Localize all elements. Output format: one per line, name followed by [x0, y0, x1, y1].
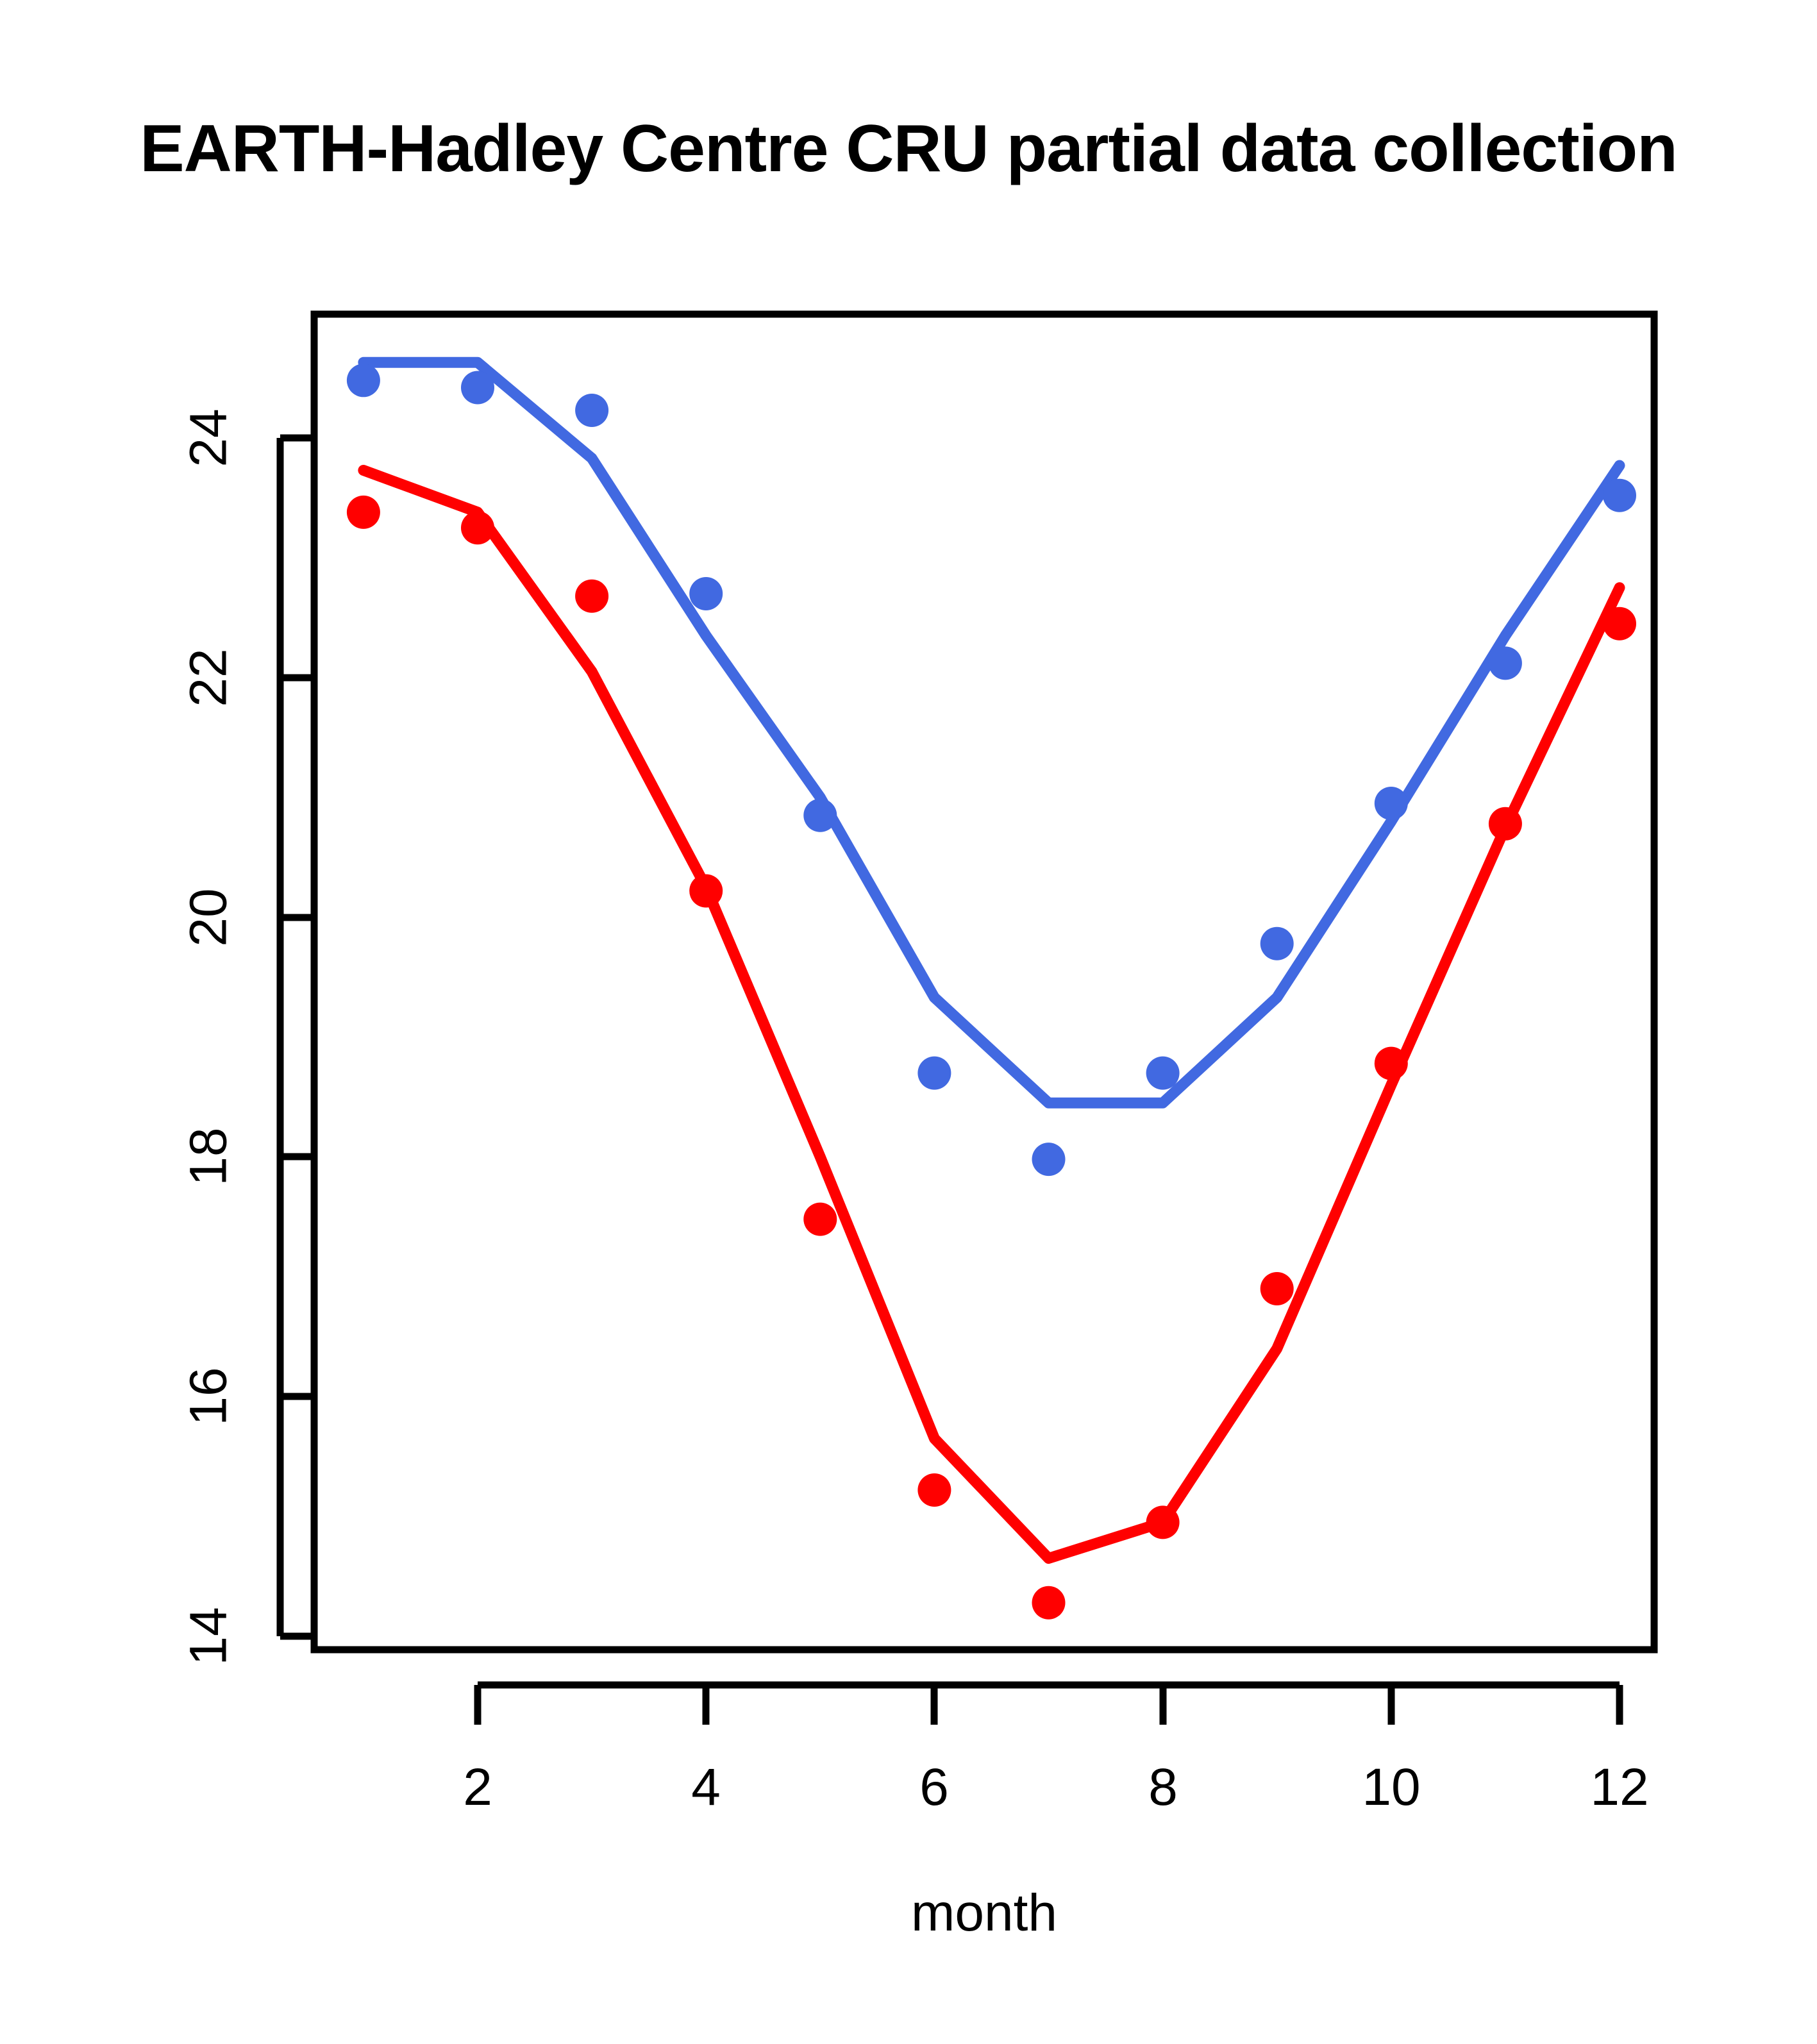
- data-point: [1603, 607, 1636, 641]
- plot-frame: [314, 314, 1654, 1650]
- y-tick-label: 18: [180, 1127, 239, 1185]
- data-point: [1146, 1505, 1180, 1539]
- data-point: [347, 364, 380, 397]
- y-tick-label: 14: [180, 1607, 239, 1665]
- data-point: [803, 799, 837, 832]
- plot-area: [0, 0, 1817, 2044]
- data-point: [917, 1473, 951, 1507]
- data-point: [1375, 787, 1408, 820]
- y-tick-label: 24: [180, 408, 239, 467]
- x-tick-label: 2: [463, 1758, 492, 1817]
- x-axis: [478, 1685, 1620, 1725]
- data-point: [1032, 1143, 1066, 1176]
- data-point: [1146, 1057, 1180, 1090]
- data-point: [1489, 807, 1522, 841]
- data-point: [803, 1203, 837, 1236]
- y-tick-label: 20: [180, 888, 239, 946]
- data-point: [917, 1057, 951, 1090]
- y-tick-label: 16: [180, 1367, 239, 1425]
- x-tick-label: 10: [1362, 1758, 1420, 1817]
- data-point: [1260, 1272, 1294, 1305]
- data-point: [1489, 646, 1522, 680]
- series-layer: [347, 362, 1636, 1619]
- data-point: [461, 511, 494, 544]
- y-tick-label: 22: [180, 648, 239, 707]
- data-point: [575, 394, 608, 427]
- data-point: [1260, 927, 1294, 960]
- x-tick-label: 4: [691, 1758, 721, 1817]
- data-point: [689, 875, 723, 908]
- series-line-red-line: [364, 471, 1620, 1559]
- data-point: [689, 577, 723, 610]
- data-point: [1032, 1586, 1066, 1620]
- data-point: [1375, 1047, 1408, 1080]
- data-point: [575, 580, 608, 613]
- data-point: [1603, 479, 1636, 512]
- x-tick-label: 6: [919, 1758, 949, 1817]
- x-tick-label: 12: [1590, 1758, 1648, 1817]
- x-axis-label: month: [911, 1884, 1057, 1943]
- x-tick-label: 8: [1148, 1758, 1178, 1817]
- data-point: [461, 371, 494, 405]
- data-point: [347, 496, 380, 529]
- chart-figure: EARTH-Hadley Centre CRU partial data col…: [0, 0, 1817, 2044]
